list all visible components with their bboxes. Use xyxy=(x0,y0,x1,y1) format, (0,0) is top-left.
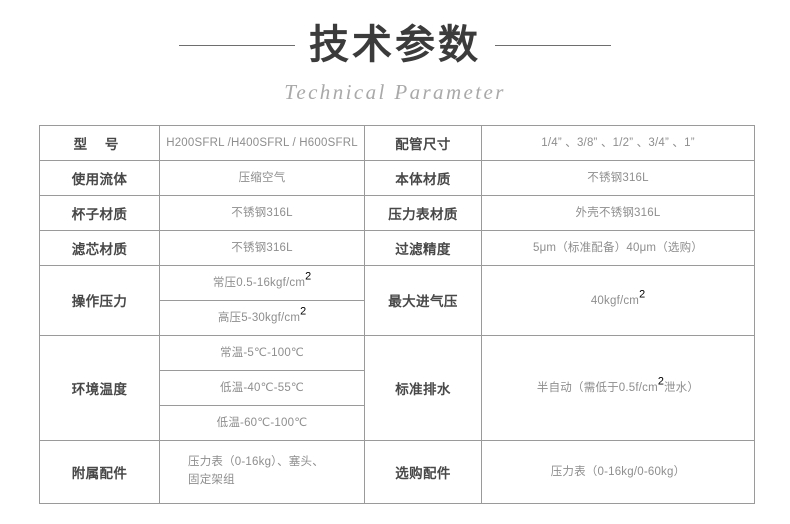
row-label-element-material: 滤芯材质 xyxy=(40,231,160,266)
subrow-cell: 低温-60℃-100℃ xyxy=(160,406,364,441)
value-text-line2: 固定架组 xyxy=(160,472,364,490)
row-label-accessories: 附属配件 xyxy=(40,441,160,504)
table-row: 型 号 H200SFRL /H400SFRL / H600SFRL 配管尺寸 1… xyxy=(40,126,755,161)
value-text: 常压0.5-16kgf/cm xyxy=(213,277,305,289)
label-text: 杯子材质 xyxy=(72,207,128,222)
decorative-rule-left xyxy=(179,45,295,46)
value-text: 1/4” 、3/8” 、1/2” 、3/4” 、1” xyxy=(541,137,694,149)
spec-table: 型 号 H200SFRL /H400SFRL / H600SFRL 配管尺寸 1… xyxy=(39,125,755,504)
value-text: 低温-60℃-100℃ xyxy=(217,417,308,429)
row-label-filtration: 过滤精度 xyxy=(365,231,482,266)
decorative-rule-right xyxy=(495,45,611,46)
ambient-temperature-subtable: 常温-5℃-100℃ 低温-40℃-55℃ 低温-60℃-100℃ xyxy=(160,336,364,440)
label-text: 选购配件 xyxy=(395,466,451,481)
row-label-fluid: 使用流体 xyxy=(40,161,160,196)
label-text: 附属配件 xyxy=(72,466,128,481)
value-text: 常温-5℃-100℃ xyxy=(220,347,304,359)
table-row: 滤芯材质 不锈钢316L 过滤精度 5μm（标准配备）40μm（选购） xyxy=(40,231,755,266)
value-text: 5μm（标准配备）40μm（选购） xyxy=(533,242,703,254)
row-value-fluid: 压缩空气 xyxy=(160,161,365,196)
label-text: 操作压力 xyxy=(72,294,128,309)
value-text: 不锈钢316L xyxy=(587,172,648,184)
operating-pressure-subtable: 常压0.5-16kgf/cm2 高压5-30kgf/cm2 xyxy=(160,266,364,335)
row-label-max-inlet-pressure: 最大进气压 xyxy=(365,266,482,336)
superscript: 2 xyxy=(305,271,311,283)
row-value-cup-material: 不锈钢316L xyxy=(160,196,365,231)
row-value-body-material: 不锈钢316L xyxy=(482,161,755,196)
label-text: 环境温度 xyxy=(72,382,128,397)
row-value-element-material: 不锈钢316L xyxy=(160,231,365,266)
table-row: 杯子材质 不锈钢316L 压力表材质 外壳不锈钢316L xyxy=(40,196,755,231)
superscript: 2 xyxy=(639,288,645,300)
row-value-gauge-material: 外壳不锈钢316L xyxy=(482,196,755,231)
row-label-standard-drainage: 标准排水 xyxy=(365,336,482,441)
row-value-operating-pressure: 常压0.5-16kgf/cm2 高压5-30kgf/cm2 xyxy=(160,266,365,336)
title-row: 技术参数 xyxy=(0,22,790,69)
label-text: 滤芯材质 xyxy=(72,242,128,257)
page-subtitle: Technical Parameter xyxy=(0,80,790,105)
value-text: 高压5-30kgf/cm xyxy=(218,312,300,324)
row-value-accessories: 压力表（0-16kg）、塞头、 固定架组 xyxy=(160,441,365,504)
subrow: 常压0.5-16kgf/cm2 xyxy=(160,266,364,301)
value-text-post: 泄水） xyxy=(664,382,699,394)
value-text: 不锈钢316L xyxy=(231,242,292,254)
value-text: 低温-40℃-55℃ xyxy=(220,382,304,394)
subrow-cell: 常压0.5-16kgf/cm2 xyxy=(160,266,364,301)
value-text: 压缩空气 xyxy=(239,172,286,184)
subrow: 低温-60℃-100℃ xyxy=(160,406,364,441)
value-text: H200SFRL /H400SFRL / H600SFRL xyxy=(166,137,358,149)
label-text: 使用流体 xyxy=(72,172,128,187)
value-text-pre: 半自动（需低于0.5f/cm xyxy=(537,382,658,394)
label-text: 压力表材质 xyxy=(388,207,458,222)
label-text: 最大进气压 xyxy=(388,294,458,309)
subrow: 高压5-30kgf/cm2 xyxy=(160,301,364,336)
row-label-pipe-size: 配管尺寸 xyxy=(365,126,482,161)
row-value-filtration: 5μm（标准配备）40μm（选购） xyxy=(482,231,755,266)
row-label-optional-accessories: 选购配件 xyxy=(365,441,482,504)
row-value-pipe-size: 1/4” 、3/8” 、1/2” 、3/4” 、1” xyxy=(482,126,755,161)
row-label-model: 型 号 xyxy=(40,126,160,161)
row-label-cup-material: 杯子材质 xyxy=(40,196,160,231)
label-text: 配管尺寸 xyxy=(395,137,451,152)
row-label-ambient-temperature: 环境温度 xyxy=(40,336,160,441)
row-value-optional-accessories: 压力表（0-16kg/0-60kg） xyxy=(482,441,755,504)
subrow-cell: 低温-40℃-55℃ xyxy=(160,371,364,406)
row-label-operating-pressure: 操作压力 xyxy=(40,266,160,336)
row-label-gauge-material: 压力表材质 xyxy=(365,196,482,231)
value-text: 40kgf/cm xyxy=(591,295,639,307)
spec-table-wrapper: 型 号 H200SFRL /H400SFRL / H600SFRL 配管尺寸 1… xyxy=(39,125,750,504)
row-value-ambient-temperature: 常温-5℃-100℃ 低温-40℃-55℃ 低温-60℃-100℃ xyxy=(160,336,365,441)
row-label-body-material: 本体材质 xyxy=(365,161,482,196)
label-text: 型 号 xyxy=(74,137,126,152)
row-value-max-inlet-pressure: 40kgf/cm2 xyxy=(482,266,755,336)
table-row: 使用流体 压缩空气 本体材质 不锈钢316L xyxy=(40,161,755,196)
value-text: 压力表（0-16kg/0-60kg） xyxy=(551,466,686,478)
page-header: 技术参数 Technical Parameter xyxy=(0,0,790,105)
row-value-standard-drainage: 半自动（需低于0.5f/cm2泄水） xyxy=(482,336,755,441)
subrow-cell: 高压5-30kgf/cm2 xyxy=(160,301,364,336)
subrow-cell: 常温-5℃-100℃ xyxy=(160,336,364,371)
label-text: 过滤精度 xyxy=(395,242,451,257)
value-text: 外壳不锈钢316L xyxy=(576,207,661,219)
value-text: 不锈钢316L xyxy=(231,207,292,219)
label-text: 标准排水 xyxy=(395,382,451,397)
row-value-model: H200SFRL /H400SFRL / H600SFRL xyxy=(160,126,365,161)
superscript: 2 xyxy=(300,306,306,318)
page-title: 技术参数 xyxy=(309,22,481,69)
value-text-line1: 压力表（0-16kg）、塞头、 xyxy=(160,454,364,472)
label-text: 本体材质 xyxy=(395,172,451,187)
subrow: 常温-5℃-100℃ xyxy=(160,336,364,371)
subrow: 低温-40℃-55℃ xyxy=(160,371,364,406)
table-row-accessories: 附属配件 压力表（0-16kg）、塞头、 固定架组 选购配件 压力表（0-16k… xyxy=(40,441,755,504)
